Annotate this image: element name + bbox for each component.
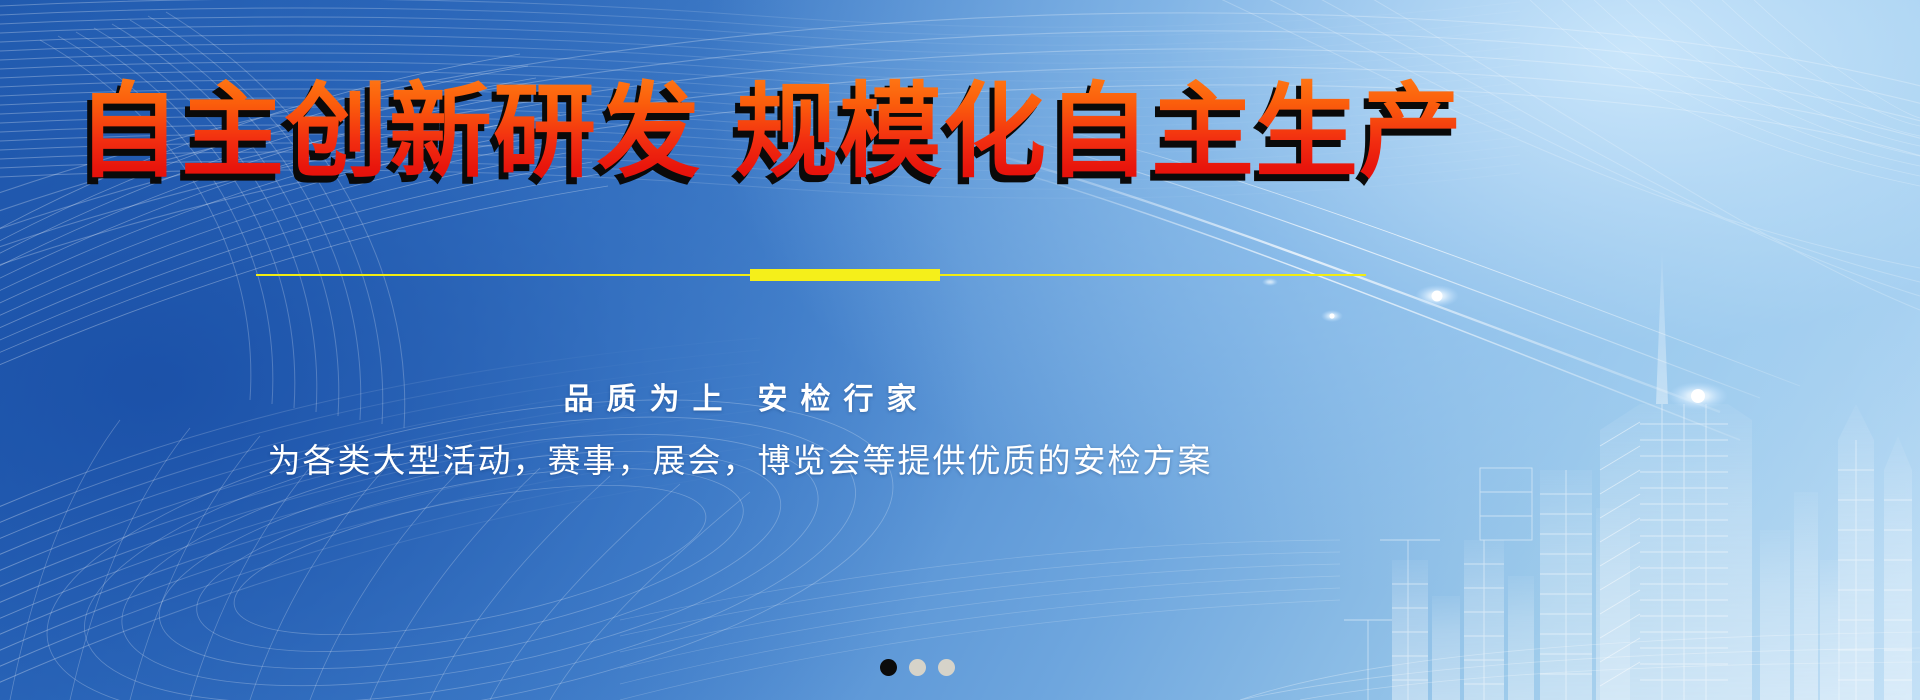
divider-hairline bbox=[256, 274, 1106, 276]
carousel-indicators[interactable] bbox=[880, 659, 955, 676]
subtitle-primary-b: 安检行家 bbox=[758, 383, 930, 416]
subtitle-secondary: 为各类大型活动，赛事，展会，博览会等提供优质的安检方案 bbox=[0, 434, 1480, 482]
divider-hairline-extension bbox=[1106, 274, 1366, 276]
banner-content: 自主创新研发规模化自主生产 品质为上安检行家 为各类大型活动，赛事，展会，博览会… bbox=[0, 0, 1920, 700]
headline-part-1: 自主创新研发 bbox=[77, 74, 701, 189]
divider-center-block bbox=[750, 269, 940, 281]
hero-banner: 自主创新研发规模化自主生产 品质为上安检行家 为各类大型活动，赛事，展会，博览会… bbox=[0, 0, 1920, 700]
yellow-divider bbox=[256, 268, 1106, 282]
carousel-dot-1[interactable] bbox=[880, 659, 897, 676]
subtitle-primary-a: 品质为上 bbox=[564, 383, 736, 416]
page-title: 自主创新研发规模化自主生产 bbox=[0, 72, 1540, 192]
subtitle-primary: 品质为上安检行家 bbox=[0, 374, 1480, 418]
carousel-dot-2[interactable] bbox=[909, 659, 926, 676]
headline-part-2: 规模化自主生产 bbox=[735, 74, 1463, 189]
carousel-dot-3[interactable] bbox=[938, 659, 955, 676]
